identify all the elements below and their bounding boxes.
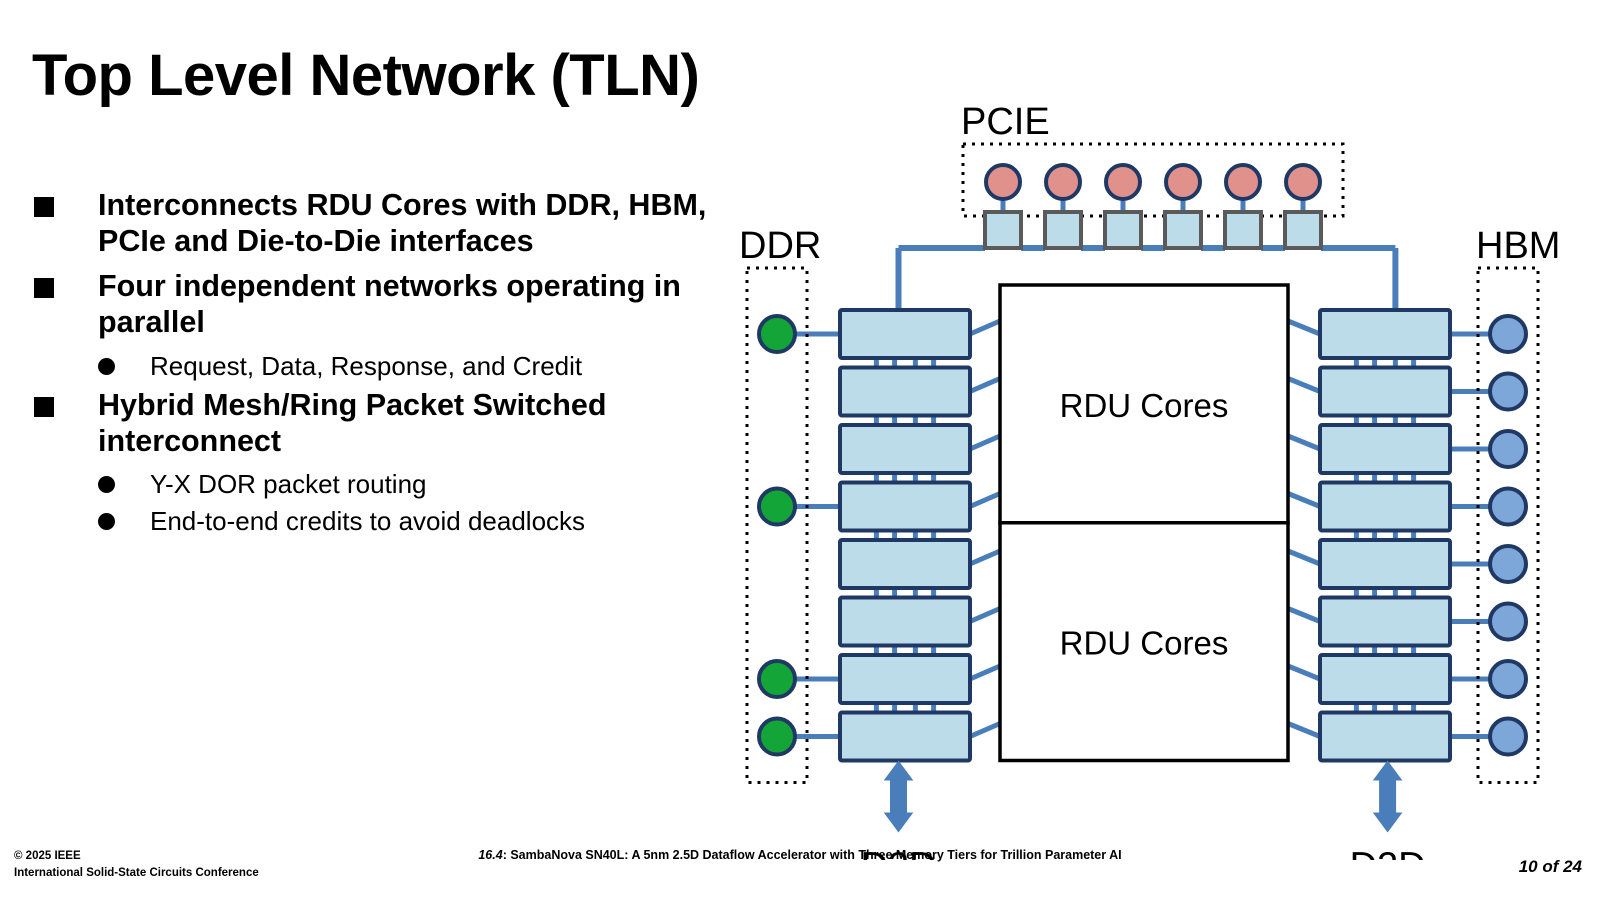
- link: [970, 609, 1000, 622]
- rdu-cores-top-label: RDU Cores: [1060, 387, 1229, 424]
- link: [970, 321, 1000, 334]
- hbm-node[interactable]: [1490, 316, 1526, 352]
- page-number: 10 of 24: [1519, 857, 1582, 877]
- dot-bullet-icon: [98, 476, 115, 493]
- d2d-arrow-icon: [884, 761, 914, 833]
- pcie-switch-block[interactable]: [1105, 212, 1141, 248]
- link: [970, 494, 1000, 507]
- link: [1288, 724, 1320, 737]
- hbm-group-label: HBM: [1476, 225, 1560, 267]
- bullet-text: Four independent networks operating in p…: [98, 269, 681, 339]
- rdu-cores-bottom-label: RDU Cores: [1060, 625, 1229, 662]
- square-bullet-icon: [34, 197, 54, 217]
- pcie-switch-block[interactable]: [985, 212, 1021, 248]
- hbm-node[interactable]: [1490, 546, 1526, 582]
- pcie-port-node[interactable]: [986, 165, 1020, 199]
- link: [970, 666, 1000, 679]
- bullet-list: Interconnects RDU Cores with DDR, HBM, P…: [30, 188, 730, 544]
- bullet-text: Interconnects RDU Cores with DDR, HBM, P…: [98, 188, 706, 258]
- footer-center: 16.4: SambaNova SN40L: A 5nm 2.5D Datafl…: [0, 848, 1600, 862]
- tln-router-block[interactable]: [1320, 713, 1450, 761]
- ddr-group-label: DDR: [739, 225, 821, 267]
- pcie-switch-block[interactable]: [1225, 212, 1261, 248]
- session-number: 16.4: [478, 848, 502, 862]
- hbm-node[interactable]: [1490, 489, 1526, 525]
- link: [1288, 321, 1320, 334]
- tln-router-block[interactable]: [840, 310, 970, 358]
- tln-block-diagram: RDU CoresRDU CoresPCIEDDRHBMD2DD2D: [735, 100, 1595, 860]
- pcie-switch-block[interactable]: [1045, 212, 1081, 248]
- bullet-item: Four independent networks operating in p…: [30, 269, 730, 340]
- pcie-port-node[interactable]: [1106, 165, 1140, 199]
- pcie-port-node[interactable]: [1166, 165, 1200, 199]
- link: [970, 724, 1000, 737]
- bullet-item: Y-X DOR packet routing: [30, 469, 730, 500]
- pcie-port-node[interactable]: [1226, 165, 1260, 199]
- link: [1288, 436, 1320, 449]
- bullet-text: Y-X DOR packet routing: [150, 469, 427, 499]
- tln-router-block[interactable]: [840, 713, 970, 761]
- square-bullet-icon: [34, 278, 54, 298]
- tln-router-block[interactable]: [1320, 425, 1450, 473]
- ddr-node[interactable]: [759, 661, 795, 697]
- paper-title: : SambaNova SN40L: A 5nm 2.5D Dataflow A…: [503, 848, 1122, 862]
- link: [970, 436, 1000, 449]
- page-title: Top Level Network (TLN): [32, 46, 699, 107]
- tln-router-block[interactable]: [1320, 483, 1450, 531]
- tln-router-block[interactable]: [1320, 540, 1450, 588]
- link: [1288, 379, 1320, 392]
- bullet-item: Hybrid Mesh/Ring Packet Switched interco…: [30, 388, 730, 459]
- diagram-nodes-layer: [747, 144, 1538, 833]
- ddr-node[interactable]: [759, 489, 795, 525]
- link: [1288, 494, 1320, 507]
- tln-router-block[interactable]: [840, 598, 970, 646]
- pcie-port-node[interactable]: [1286, 165, 1320, 199]
- tln-router-block[interactable]: [840, 483, 970, 531]
- tln-router-block[interactable]: [1320, 310, 1450, 358]
- tln-router-block[interactable]: [840, 655, 970, 703]
- tln-router-block[interactable]: [1320, 655, 1450, 703]
- link: [970, 379, 1000, 392]
- tln-router-block[interactable]: [1320, 368, 1450, 416]
- tln-router-block[interactable]: [840, 425, 970, 473]
- bullet-item: Interconnects RDU Cores with DDR, HBM, P…: [30, 188, 730, 259]
- pcie-switch-block[interactable]: [1285, 212, 1321, 248]
- d2d-arrow-icon: [1373, 761, 1403, 833]
- link: [1288, 551, 1320, 564]
- hbm-node[interactable]: [1490, 374, 1526, 410]
- diagram-svg: RDU CoresRDU CoresPCIEDDRHBMD2DD2D: [735, 100, 1595, 860]
- hbm-node[interactable]: [1490, 431, 1526, 467]
- link: [1288, 609, 1320, 622]
- bullet-item: Request, Data, Response, and Credit: [30, 351, 730, 382]
- dot-bullet-icon: [98, 358, 115, 375]
- square-bullet-icon: [34, 397, 54, 417]
- pcie-port-node[interactable]: [1046, 165, 1080, 199]
- hbm-node[interactable]: [1490, 661, 1526, 697]
- pcie-switch-block[interactable]: [1165, 212, 1201, 248]
- conference-name: International Solid-State Circuits Confe…: [14, 865, 259, 882]
- hbm-node[interactable]: [1490, 604, 1526, 640]
- bullet-item: End-to-end credits to avoid deadlocks: [30, 506, 730, 537]
- bullet-text: Hybrid Mesh/Ring Packet Switched interco…: [98, 388, 606, 458]
- ddr-node[interactable]: [759, 719, 795, 755]
- slide-canvas: Top Level Network (TLN) Interconnects RD…: [0, 0, 1600, 900]
- bullet-text: End-to-end credits to avoid deadlocks: [150, 506, 585, 536]
- hbm-node[interactable]: [1490, 719, 1526, 755]
- tln-router-block[interactable]: [1320, 598, 1450, 646]
- dot-bullet-icon: [98, 513, 115, 530]
- bullet-text: Request, Data, Response, and Credit: [150, 351, 582, 381]
- tln-router-block[interactable]: [840, 540, 970, 588]
- link: [1288, 666, 1320, 679]
- ddr-node[interactable]: [759, 316, 795, 352]
- link: [970, 551, 1000, 564]
- tln-router-block[interactable]: [840, 368, 970, 416]
- pcie-group-label: PCIE: [961, 101, 1050, 143]
